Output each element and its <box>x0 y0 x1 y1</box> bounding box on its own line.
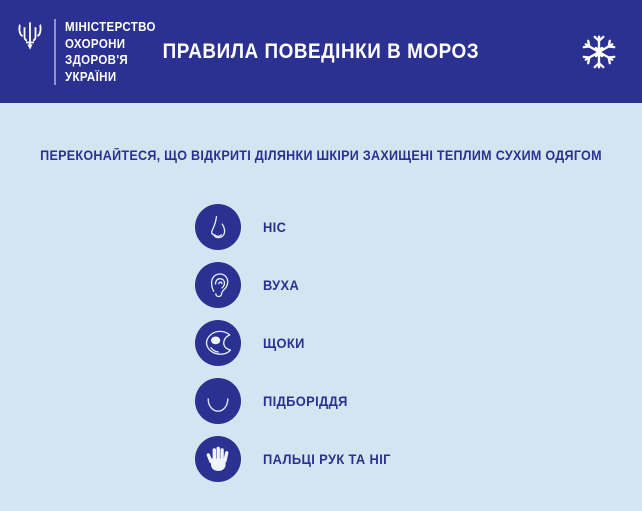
chin-icon <box>195 378 241 424</box>
list-item-label: ВУХА <box>263 277 302 293</box>
ministry-line-1: МІНІСТЕРСТВО <box>65 19 156 36</box>
list-item: ПІДБОРІДДЯ <box>195 377 402 425</box>
poster-header: МІНІСТЕРСТВО ОХОРОНИ ЗДОРОВ'Я УКРАЇНИ ПР… <box>0 0 642 103</box>
list-item: ПАЛЬЦІ РУК ТА НІГ <box>195 435 402 483</box>
brand-divider <box>54 19 56 85</box>
list-item: ЩОКИ <box>195 319 402 367</box>
poster-title-text: ПРАВИЛА ПОВЕДІНКИ В МОРОЗ <box>163 40 480 64</box>
list-item: НІС <box>195 203 402 251</box>
body-parts-list: НІС ВУХА <box>195 203 402 483</box>
nose-icon <box>195 204 241 250</box>
ministry-line-3: ЗДОРОВ'Я <box>65 52 156 69</box>
snowflake-icon <box>581 34 617 70</box>
infographic-poster: МІНІСТЕРСТВО ОХОРОНИ ЗДОРОВ'Я УКРАЇНИ ПР… <box>0 0 642 511</box>
hand-icon <box>195 436 241 482</box>
ministry-line-4: УКРАЇНИ <box>65 69 156 86</box>
list-item-label: ЩОКИ <box>263 335 308 351</box>
ministry-brand: МІНІСТЕРСТВО ОХОРОНИ ЗДОРОВ'Я УКРАЇНИ <box>17 19 164 85</box>
list-item: ВУХА <box>195 261 402 309</box>
ukraine-trident-icon <box>17 21 43 51</box>
ear-icon <box>195 262 241 308</box>
list-item-label: ПАЛЬЦІ РУК ТА НІГ <box>263 451 402 467</box>
poster-subtitle: ПЕРЕКОНАЙТЕСЯ, ЩО ВІДКРИТІ ДІЛЯНКИ ШКІРИ… <box>0 148 642 163</box>
ministry-name: МІНІСТЕРСТВО ОХОРОНИ ЗДОРОВ'Я УКРАЇНИ <box>65 19 164 85</box>
ministry-line-2: ОХОРОНИ <box>65 36 156 53</box>
list-item-label: ПІДБОРІДДЯ <box>263 393 355 409</box>
poster-subtitle-text: ПЕРЕКОНАЙТЕСЯ, ЩО ВІДКРИТІ ДІЛЯНКИ ШКІРИ… <box>40 148 602 163</box>
list-item-label: НІС <box>263 219 288 235</box>
cheek-icon <box>195 320 241 366</box>
